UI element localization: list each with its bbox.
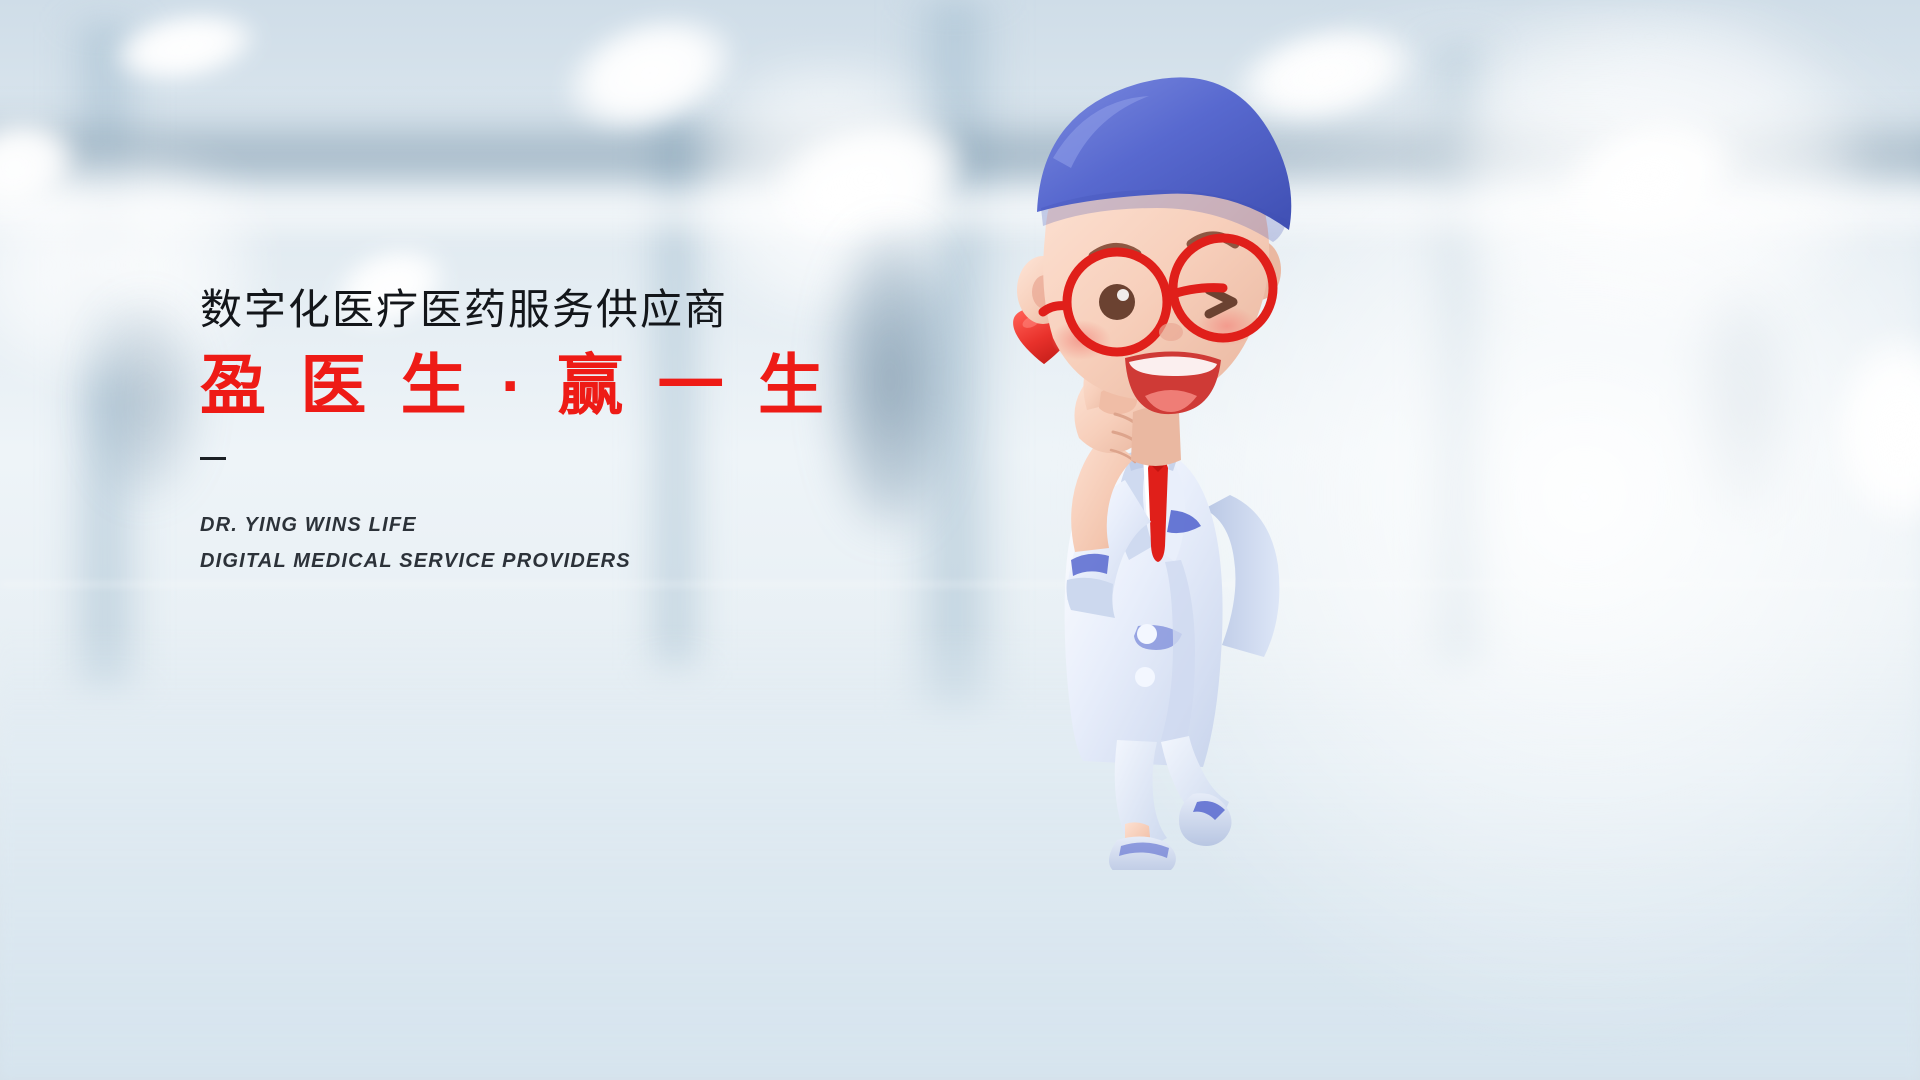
mascot-neck <box>1131 407 1181 466</box>
mascot-coat-button-top <box>1137 624 1157 644</box>
page-title: 盈 医 生 · 赢 一 生 <box>200 349 960 423</box>
doctor-mascot-illustration <box>975 40 1395 870</box>
english-tagline-line-2: DIGITAL MEDICAL SERVICE PROVIDERS <box>200 544 960 580</box>
marketing-copy: 数字化医疗医药服务供应商 盈 医 生 · 赢 一 生 DR. YING WINS… <box>200 286 960 579</box>
english-tagline-line-1: DR. YING WINS LIFE <box>200 508 960 544</box>
background-person-silhouette-2 <box>90 300 200 500</box>
mascot-legs <box>1109 736 1232 870</box>
mascot-nose <box>1159 323 1183 341</box>
mascot-head <box>1017 77 1291 414</box>
mascot-coat-button-bottom <box>1135 667 1155 687</box>
divider-rule <box>200 457 226 460</box>
mascot-eye-open <box>1099 284 1135 320</box>
hero-banner: 数字化医疗医药服务供应商 盈 医 生 · 赢 一 生 DR. YING WINS… <box>0 0 1920 1080</box>
english-tagline-block: DR. YING WINS LIFE DIGITAL MEDICAL SERVI… <box>200 508 960 579</box>
subheadline: 数字化医疗医药服务供应商 <box>200 286 960 333</box>
